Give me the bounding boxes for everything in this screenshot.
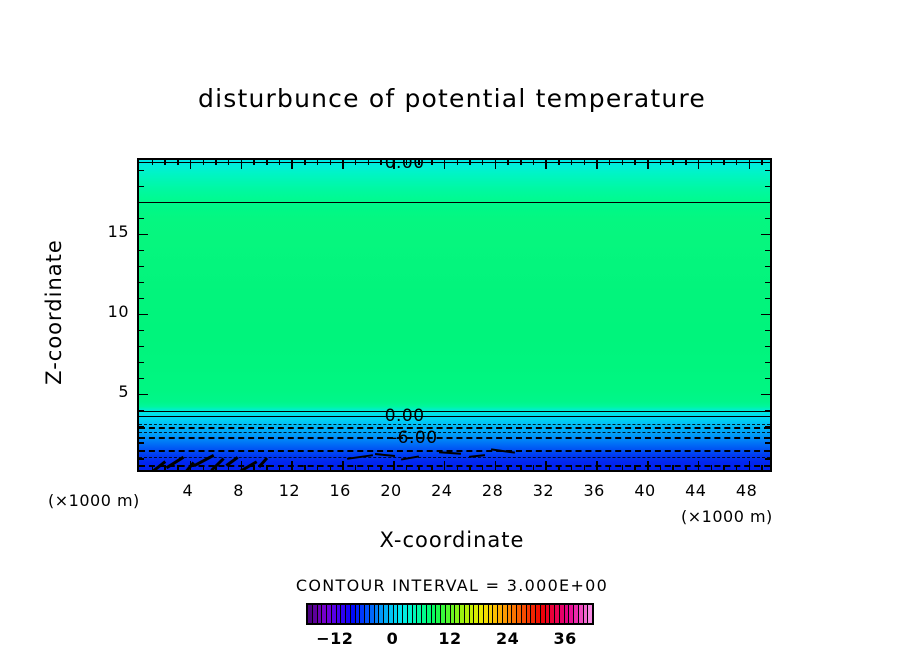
x-axis-minor-tick — [355, 160, 357, 165]
colorbar — [306, 603, 594, 625]
x-axis-major-tick — [444, 160, 446, 169]
x-axis-major-tick — [749, 160, 751, 169]
x-axis-minor-tick — [507, 465, 509, 470]
x-axis-minor-tick — [533, 160, 535, 165]
x-axis-minor-tick — [469, 465, 471, 470]
y-axis-minor-tick — [765, 346, 770, 348]
x-axis-minor-tick — [761, 465, 763, 470]
x-axis-minor-tick — [634, 465, 636, 470]
contour-label: 0.00 — [382, 158, 428, 173]
x-axis-minor-tick — [406, 160, 408, 165]
x-tick-label: 16 — [320, 481, 360, 500]
x-axis-major-tick — [291, 461, 293, 470]
y-axis-minor-tick — [139, 202, 144, 204]
y-axis-minor-tick — [139, 330, 144, 332]
x-tick-label: 44 — [676, 481, 716, 500]
x-axis-major-tick — [647, 160, 649, 169]
x-axis-major-tick — [190, 461, 192, 470]
x-axis-minor-tick — [711, 465, 713, 470]
x-axis-minor-tick — [152, 465, 154, 470]
y-axis-minor-tick — [139, 410, 144, 412]
x-axis-minor-tick — [736, 465, 738, 470]
x-tick-label: 32 — [523, 481, 563, 500]
y-tick-label: 15 — [95, 222, 129, 241]
y-axis-minor-tick — [139, 218, 144, 220]
x-axis-minor-tick — [609, 160, 611, 165]
x-axis-minor-tick — [253, 465, 255, 470]
x-axis-major-tick — [545, 461, 547, 470]
x-axis-major-tick — [444, 461, 446, 470]
y-axis-minor-tick — [139, 282, 144, 284]
x-axis-minor-tick — [203, 465, 205, 470]
x-axis-minor-tick — [507, 160, 509, 165]
x-axis-minor-tick — [253, 160, 255, 165]
x-tick-label: 36 — [574, 481, 614, 500]
x-axis-minor-tick — [279, 465, 281, 470]
x-axis-minor-tick — [380, 465, 382, 470]
x-axis-minor-tick — [177, 465, 179, 470]
contour-line — [139, 162, 770, 163]
contour-line — [139, 416, 770, 417]
x-axis-minor-tick — [317, 465, 319, 470]
x-axis-minor-tick — [380, 160, 382, 165]
x-tick-label: 40 — [625, 481, 665, 500]
x-axis-minor-tick — [228, 465, 230, 470]
x-axis-minor-tick — [317, 160, 319, 165]
y-axis-major-tick — [761, 314, 770, 316]
colorbar-cell — [588, 605, 592, 623]
x-axis-minor-tick — [533, 465, 535, 470]
x-axis-minor-tick — [634, 160, 636, 165]
x-axis-minor-tick — [685, 465, 687, 470]
contour-plot-area: 0.000.00-6.00 — [137, 158, 772, 472]
x-axis-minor-tick — [406, 465, 408, 470]
x-axis-minor-tick — [672, 160, 674, 165]
y-tick-label: 10 — [95, 302, 129, 321]
x-tick-label: 4 — [168, 481, 208, 500]
x-axis-minor-tick — [558, 465, 560, 470]
y-axis-minor-tick — [139, 458, 144, 460]
x-axis-minor-tick — [723, 160, 725, 165]
x-axis-minor-tick — [368, 160, 370, 165]
x-axis-minor-tick — [418, 465, 420, 470]
x-axis-minor-tick — [457, 465, 459, 470]
x-axis-major-tick — [495, 461, 497, 470]
x-axis-major-tick — [647, 461, 649, 470]
x-axis-minor-tick — [164, 160, 166, 165]
x-tick-label: 12 — [269, 481, 309, 500]
x-axis-major-tick — [241, 461, 243, 470]
x-axis-minor-tick — [660, 160, 662, 165]
y-axis-minor-tick — [765, 458, 770, 460]
x-axis-major-tick — [342, 160, 344, 169]
y-axis-minor-tick — [765, 410, 770, 412]
x-axis-minor-tick — [215, 160, 217, 165]
x-axis-major-tick — [291, 160, 293, 169]
x-axis-minor-tick — [482, 160, 484, 165]
x-axis-minor-tick — [228, 160, 230, 165]
x-axis-major-tick — [545, 160, 547, 169]
x-axis-minor-tick — [368, 465, 370, 470]
contour-interval-label: CONTOUR INTERVAL = 3.000E+00 — [0, 576, 904, 595]
x-axis-major-tick — [393, 160, 395, 169]
x-axis-minor-tick — [571, 465, 573, 470]
x-axis-minor-tick — [672, 465, 674, 470]
contour-label: 0.00 — [382, 406, 428, 426]
y-axis-minor-tick — [765, 442, 770, 444]
y-axis-minor-tick — [139, 426, 144, 428]
y-axis-minor-tick — [765, 218, 770, 220]
x-axis-minor-tick — [520, 465, 522, 470]
y-axis-label: Z-coordinate — [42, 212, 66, 412]
y-axis-major-tick — [761, 234, 770, 236]
x-axis-minor-tick — [152, 160, 154, 165]
x-axis-minor-tick — [431, 465, 433, 470]
x-axis-major-tick — [393, 461, 395, 470]
y-axis-minor-tick — [765, 330, 770, 332]
y-axis-minor-tick — [139, 186, 144, 188]
y-axis-minor-tick — [139, 266, 144, 268]
x-axis-major-tick — [596, 160, 598, 169]
contour-line — [139, 424, 770, 425]
y-axis-minor-tick — [765, 362, 770, 364]
contour-line — [139, 411, 770, 412]
x-axis-major-tick — [596, 461, 598, 470]
x-axis-minor-tick — [457, 160, 459, 165]
x-axis-minor-tick — [609, 465, 611, 470]
x-axis-major-tick — [698, 160, 700, 169]
x-axis-major-tick — [342, 461, 344, 470]
x-axis-major-tick — [241, 160, 243, 169]
colorbar-tick-label: −12 — [312, 629, 358, 648]
y-axis-minor-tick — [765, 426, 770, 428]
y-axis-minor-tick — [765, 282, 770, 284]
x-tick-label: 48 — [727, 481, 767, 500]
x-axis-minor-tick — [330, 465, 332, 470]
x-axis-unit-left: (×1000 m) — [48, 491, 140, 510]
y-axis-minor-tick — [765, 298, 770, 300]
page-title: disturbunce of potential temperature — [0, 84, 904, 113]
y-axis-minor-tick — [765, 250, 770, 252]
x-axis-minor-tick — [482, 465, 484, 470]
x-axis-minor-tick — [723, 465, 725, 470]
x-axis-minor-tick — [266, 160, 268, 165]
contour-line — [139, 470, 770, 471]
x-axis-minor-tick — [266, 465, 268, 470]
x-tick-label: 8 — [219, 481, 259, 500]
x-axis-minor-tick — [660, 465, 662, 470]
x-axis-minor-tick — [622, 160, 624, 165]
y-axis-minor-tick — [139, 378, 144, 380]
x-axis-minor-tick — [279, 160, 281, 165]
y-axis-minor-tick — [139, 250, 144, 252]
x-axis-minor-tick — [215, 465, 217, 470]
y-axis-major-tick — [761, 394, 770, 396]
x-axis-minor-tick — [177, 160, 179, 165]
x-axis-minor-tick — [164, 465, 166, 470]
y-axis-minor-tick — [139, 346, 144, 348]
colorbar-tick-label: 0 — [369, 629, 415, 648]
colorbar-tick-label: 36 — [542, 629, 588, 648]
x-axis-minor-tick — [622, 465, 624, 470]
x-tick-label: 20 — [371, 481, 411, 500]
x-axis-minor-tick — [584, 465, 586, 470]
x-axis-major-tick — [495, 160, 497, 169]
y-axis-minor-tick — [765, 378, 770, 380]
x-axis-minor-tick — [431, 160, 433, 165]
x-axis-minor-tick — [304, 160, 306, 165]
x-axis-minor-tick — [761, 160, 763, 165]
contour-label: -6.00 — [388, 428, 441, 448]
x-tick-label: 28 — [473, 481, 513, 500]
contour-line — [139, 427, 770, 429]
x-axis-major-tick — [190, 160, 192, 169]
y-tick-label: 5 — [95, 382, 129, 401]
x-axis-minor-tick — [571, 160, 573, 165]
y-axis-major-tick — [139, 394, 148, 396]
x-axis-minor-tick — [355, 465, 357, 470]
y-axis-minor-tick — [139, 170, 144, 172]
y-axis-major-tick — [139, 234, 148, 236]
x-axis-minor-tick — [469, 160, 471, 165]
x-axis-minor-tick — [520, 160, 522, 165]
x-axis-minor-tick — [711, 160, 713, 165]
x-axis-minor-tick — [584, 160, 586, 165]
y-axis-minor-tick — [765, 202, 770, 204]
x-axis-minor-tick — [736, 160, 738, 165]
y-axis-major-tick — [139, 314, 148, 316]
contour-line — [139, 465, 770, 467]
y-axis-minor-tick — [139, 298, 144, 300]
x-axis-label: X-coordinate — [0, 528, 904, 552]
x-axis-minor-tick — [558, 160, 560, 165]
y-axis-minor-tick — [139, 362, 144, 364]
contour-line — [139, 432, 770, 433]
x-axis-minor-tick — [685, 160, 687, 165]
x-tick-label: 24 — [422, 481, 462, 500]
x-axis-minor-tick — [304, 465, 306, 470]
y-axis-minor-tick — [765, 170, 770, 172]
y-axis-minor-tick — [765, 266, 770, 268]
colorbar-tick-label: 24 — [485, 629, 531, 648]
x-axis-minor-tick — [330, 160, 332, 165]
y-axis-minor-tick — [765, 186, 770, 188]
x-axis-major-tick — [749, 461, 751, 470]
x-axis-unit-right: (×1000 m) — [681, 507, 773, 526]
x-axis-minor-tick — [203, 160, 205, 165]
x-axis-major-tick — [698, 461, 700, 470]
colorbar-tick-label: 12 — [427, 629, 473, 648]
contour-line — [139, 437, 770, 439]
y-axis-minor-tick — [139, 442, 144, 444]
contour-line — [139, 202, 770, 203]
x-axis-minor-tick — [418, 160, 420, 165]
